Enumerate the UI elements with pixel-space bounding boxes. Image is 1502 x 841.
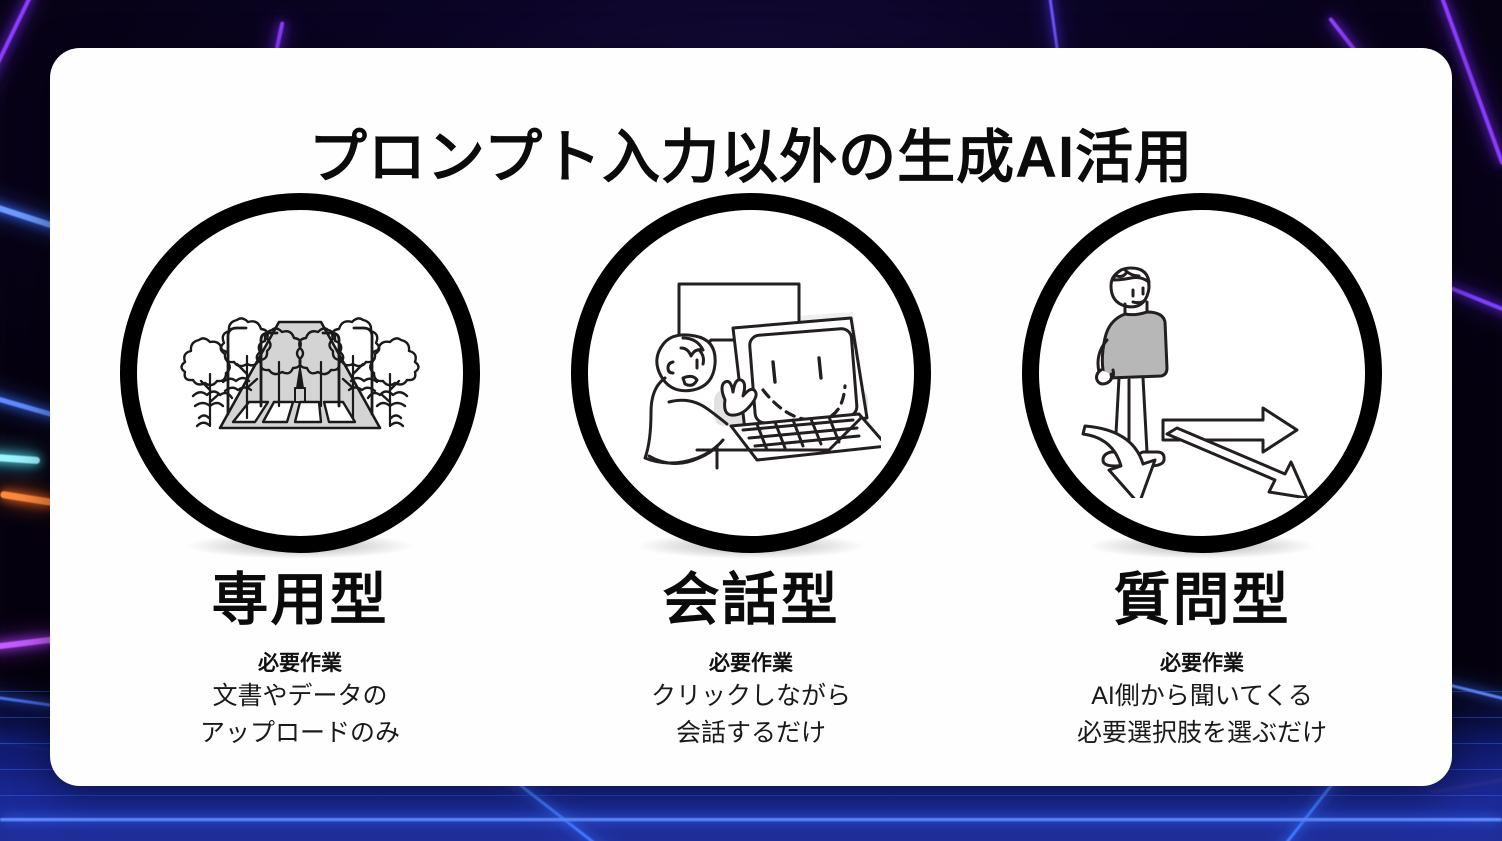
column-subtitle: 必要作業 <box>258 647 342 677</box>
column-description-line-2: 必要選択肢を選ぶだけ <box>1077 717 1327 751</box>
concept-columns: 専用型 必要作業 文書やデータの アップロードのみ <box>90 193 1412 750</box>
column-title: 専用型 <box>212 571 389 631</box>
neon-beam-floor-horizon <box>0 818 1502 821</box>
concept-column-dedicated: 専用型 必要作業 文書やデータの アップロードのみ <box>90 193 510 750</box>
slide-stage: プロンプト入力以外の生成AI活用 <box>0 0 1502 841</box>
column-title: 会話型 <box>663 571 840 631</box>
concept-column-conversational: 会話型 必要作業 クリックしながら 会話するだけ <box>541 193 961 750</box>
neon-beam-purple-top-left <box>0 0 35 161</box>
column-description-line-2: アップロードのみ <box>200 717 400 751</box>
column-title: 質問型 <box>1114 571 1291 631</box>
icon-circle-3 <box>1022 193 1382 553</box>
column-subtitle: 必要作業 <box>1160 647 1244 677</box>
content-card: プロンプト入力以外の生成AI活用 <box>50 48 1452 786</box>
icon-circle-2 <box>571 193 931 553</box>
icon-circle-wrap-3 <box>1022 193 1382 553</box>
person-chatting-with-laptop-icon <box>621 258 881 488</box>
column-subtitle: 必要作業 <box>709 647 793 677</box>
neon-beam-orange-left <box>0 491 55 507</box>
icon-circle-wrap-1 <box>120 193 480 553</box>
page-title: プロンプト入力以外の生成AI活用 <box>50 110 1452 194</box>
column-description-line-1: AI側から聞いてくる <box>1091 680 1313 714</box>
concept-column-question: 質問型 必要作業 AI側から聞いてくる 必要選択肢を選ぶだけ <box>992 193 1412 750</box>
column-description-line-1: 文書やデータの <box>212 680 387 714</box>
icon-circle-1 <box>120 193 480 553</box>
neon-beam-cyan-left <box>0 453 40 464</box>
column-description-line-2: 会話するだけ <box>676 717 826 751</box>
icon-circle-wrap-2 <box>571 193 931 553</box>
column-description-line-1: クリックしながら <box>651 680 851 714</box>
person-at-branching-arrows-icon <box>1067 248 1337 498</box>
road-crosswalk-icon <box>175 278 425 468</box>
